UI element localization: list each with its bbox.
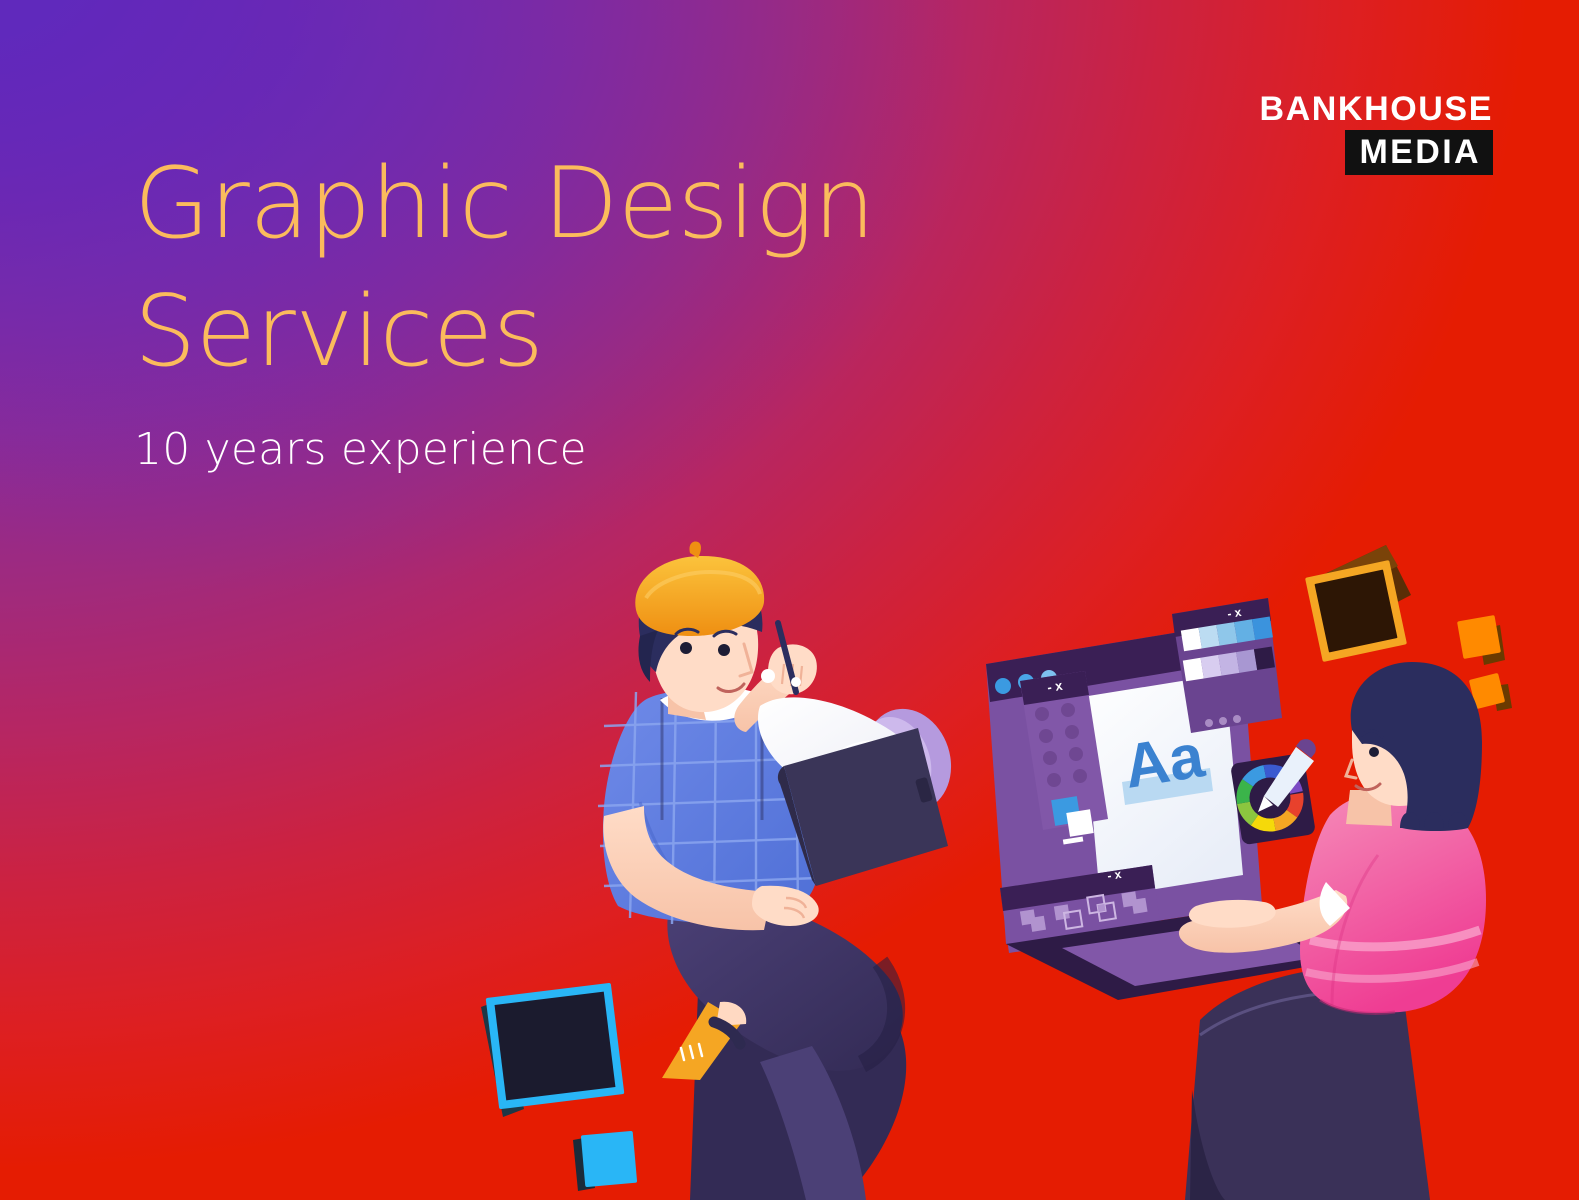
- beret-icon: [635, 556, 764, 636]
- floating-cube-orange-small: [1457, 615, 1505, 665]
- swatch-panel-minimize-label: - x: [1226, 605, 1242, 621]
- window-traffic-dot-1: [995, 678, 1011, 694]
- swatch-panel: - x: [1172, 598, 1282, 733]
- designer-left: [590, 542, 964, 1200]
- poster-canvas: BANKHOUSE MEDIA Graphic Design Services …: [0, 0, 1579, 1200]
- floating-cube-cyan-large: [481, 983, 624, 1117]
- canvas-text-Aa: Aa: [1119, 721, 1209, 802]
- woman-eye: [1369, 747, 1379, 757]
- stroke-swatch: [1066, 809, 1093, 836]
- man-eye-right: [718, 644, 730, 656]
- floating-cube-cyan-small: [573, 1131, 637, 1191]
- pathfinder-minimize-label: - x: [1106, 867, 1122, 883]
- floating-cube-orange-large: [1305, 545, 1411, 662]
- hero-illustration: Aa - x - x: [0, 0, 1579, 1200]
- man-eye-left: [680, 642, 692, 654]
